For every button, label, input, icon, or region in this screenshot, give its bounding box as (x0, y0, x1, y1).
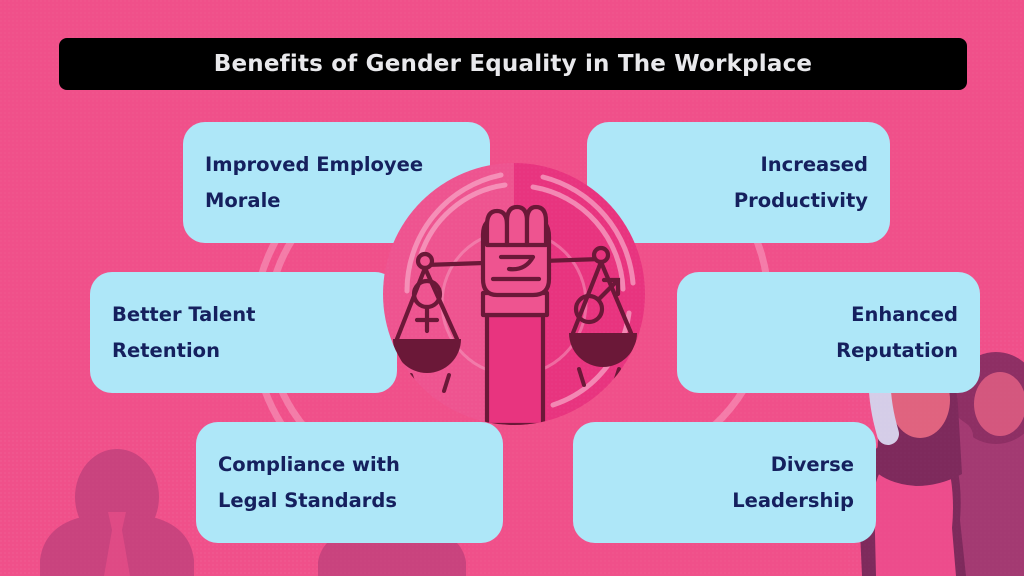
benefit-card-compliance-legal-standards: Compliance with Legal Standards (196, 422, 503, 543)
benefit-card-enhanced-reputation: Enhanced Reputation (677, 272, 980, 393)
benefit-label-line-2: Reputation (699, 333, 958, 368)
benefit-label-line-1: Increased (609, 147, 868, 182)
benefit-label-line-1: Diverse (595, 447, 854, 482)
benefit-label-line-2: Legal Standards (218, 483, 481, 518)
page-title: Benefits of Gender Equality in The Workp… (214, 51, 812, 77)
benefit-card-better-talent-retention: Better Talent Retention (90, 272, 397, 393)
page-title-bar: Benefits of Gender Equality in The Workp… (59, 38, 967, 90)
benefit-label-line-2: Productivity (609, 183, 868, 218)
benefit-label-line-1: Better Talent (112, 297, 375, 332)
gender-equality-emblem (383, 163, 645, 425)
benefit-card-diverse-leadership: Diverse Leadership (573, 422, 876, 543)
benefit-label-line-2: Retention (112, 333, 375, 368)
benefit-label-line-1: Enhanced (699, 297, 958, 332)
benefit-label-line-2: Leadership (595, 483, 854, 518)
benefit-label-line-1: Compliance with (218, 447, 481, 482)
